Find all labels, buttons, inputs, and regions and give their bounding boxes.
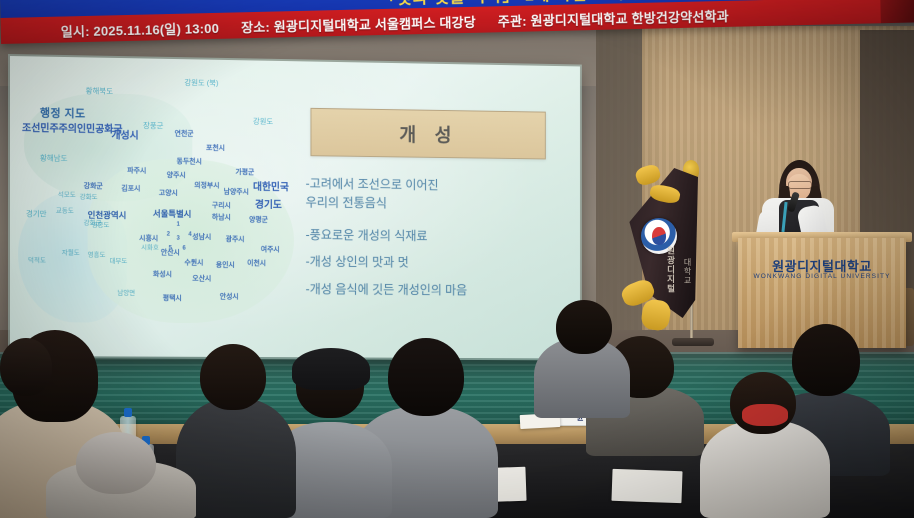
map-label: 대한민국 xyxy=(253,183,289,193)
map-label: 하남시 xyxy=(212,214,231,221)
map-label: 석모도 xyxy=(58,193,76,200)
slide-title: 개 성 xyxy=(311,109,544,159)
map-label: 평택시 xyxy=(163,295,182,302)
slide-bullet-4: -개성 음식에 깃든 개성인의 마음 xyxy=(306,283,565,298)
map-label: 광주시 xyxy=(226,236,245,243)
map-label: 양주시 xyxy=(167,172,186,179)
map-label: 조선민주주의인민공화국 xyxy=(22,124,123,135)
map-label: 인천광역시 xyxy=(88,211,127,220)
map-label: 경기만 xyxy=(26,210,47,218)
map-label: 강화군 xyxy=(84,183,103,190)
podium-university-name-en: WONKWANG DIGITAL UNIVERSITY xyxy=(738,273,906,280)
slide-map: 행정 지도 황해북도강원도 (북)강원도조선민주주의인민공화국황해남도개성시장풍… xyxy=(18,62,292,331)
flag-text-sub: 대학교 xyxy=(679,258,693,328)
banner-host-label: 주관: xyxy=(498,13,527,29)
map-label: 경기도 xyxy=(255,201,282,211)
map-label: 강화도 xyxy=(80,195,98,202)
audience-head xyxy=(556,300,612,354)
flag-stand xyxy=(672,338,714,346)
map-label: 용인시 xyxy=(216,262,235,269)
map-label: 고양시 xyxy=(159,190,178,197)
banner-right-shadow xyxy=(880,0,914,23)
map-label: 강원도 (북) xyxy=(184,79,218,87)
map-label: 자월도 xyxy=(62,250,80,257)
slide-bullet-2: -풍요로운 개성의 식재료 xyxy=(306,229,565,244)
map-label: 가평군 xyxy=(235,169,254,176)
slide-bullet-3: -개성 상인의 맛과 멋 xyxy=(306,256,565,271)
audience-head xyxy=(0,338,52,396)
map-label: 김포시 xyxy=(121,185,140,192)
map-label: 영흥도 xyxy=(88,253,106,260)
map-label: 의정부시 xyxy=(194,182,219,189)
slide-title-box: 개 성 xyxy=(310,108,545,160)
map-label: 남양주시 xyxy=(224,189,249,196)
map-label: 오산시 xyxy=(192,275,211,282)
audience-head xyxy=(388,338,464,416)
map-label: 교동도 xyxy=(56,209,74,216)
slide-bullet-1: -고려에서 조선으로 이어진 xyxy=(306,178,565,194)
map-number-marker: 1 xyxy=(177,222,180,228)
map-number-marker: 4 xyxy=(188,232,191,238)
audience-head-gray-hair xyxy=(76,432,156,494)
map-label-layer: 황해북도강원도 (북)강원도조선민주주의인민공화국황해남도개성시장풍군연천군포천… xyxy=(18,62,292,67)
map-label: 시화호 xyxy=(141,245,159,252)
map-label: 개성시 xyxy=(111,132,138,142)
map-title: 행정 지도 xyxy=(40,104,86,121)
glasses-icon xyxy=(788,181,812,189)
map-label: 동두천시 xyxy=(177,158,202,165)
banner-date-segment: 일시: 2025.11.16(일) 13:00 xyxy=(61,17,220,40)
banner-venue-label: 장소: xyxy=(241,19,270,35)
slide-bullet-list: -고려에서 조선으로 이어진 우리의 전통음식 -풍요로운 개성의 식재료 -개… xyxy=(306,178,565,312)
projection-screen: 행정 지도 황해북도강원도 (북)강원도조선민주주의인민공화국황해남도개성시장풍… xyxy=(10,56,580,358)
banner-venue-value: 원광디지털대학교 서울캠퍼스 대강당 xyxy=(274,14,476,34)
map-label: 양평군 xyxy=(249,217,268,224)
audience-shoulders xyxy=(700,420,830,518)
map-label: 성남시 xyxy=(192,234,211,241)
banner-date-value: 2025.11.16(일) 13:00 xyxy=(93,20,219,38)
map-label: 안성시 xyxy=(220,294,239,301)
map-label: 구리시 xyxy=(212,202,231,209)
audience-cap xyxy=(292,348,370,390)
banner-venue-segment: 장소: 원광디지털대학교 서울캠퍼스 대강당 xyxy=(241,11,476,36)
paper-sheet xyxy=(611,469,682,503)
map-label: 여주시 xyxy=(261,246,280,253)
map-label: 영종도 xyxy=(92,223,110,230)
audience-head xyxy=(792,324,860,396)
map-number-marker: 6 xyxy=(182,246,185,252)
conference-photo-scene: 행정 지도 황해북도강원도 (북)강원도조선민주주의인민공화국황해남도개성시장풍… xyxy=(0,0,914,518)
audience-scarf xyxy=(742,404,788,426)
banner-host-segment: 주관: 원광디지털대학교 한방건강약선학과 xyxy=(498,5,729,29)
map-label: 황해북도 xyxy=(86,87,113,95)
banner-host-value: 원광디지털대학교 한방건강약선학과 xyxy=(530,8,729,28)
map-label: 포천시 xyxy=(206,145,225,152)
audience-head xyxy=(200,344,266,410)
map-number-marker: 3 xyxy=(177,236,180,242)
map-label: 강원도 xyxy=(253,118,273,126)
map-label: 화성시 xyxy=(153,271,172,278)
slide-bullet-1-cont: 우리의 전통음식 xyxy=(306,197,565,213)
map-number-marker: 2 xyxy=(167,232,170,238)
map-number-marker: 5 xyxy=(169,246,172,252)
map-label: 남양면 xyxy=(117,291,135,298)
map-label: 덕적도 xyxy=(28,258,46,265)
banner-date-label: 일시: xyxy=(61,23,90,39)
map-label: 시흥시 xyxy=(139,235,158,242)
map-label: 서울특별시 xyxy=(153,210,191,219)
map-label: 연천군 xyxy=(175,130,194,137)
map-label: 대부도 xyxy=(109,259,127,266)
map-label: 장풍군 xyxy=(143,122,163,130)
map-label: 황해남도 xyxy=(40,154,67,162)
map-label: 파주시 xyxy=(127,168,146,175)
map-label: 이천시 xyxy=(247,260,266,267)
map-label: 수원시 xyxy=(184,260,203,267)
